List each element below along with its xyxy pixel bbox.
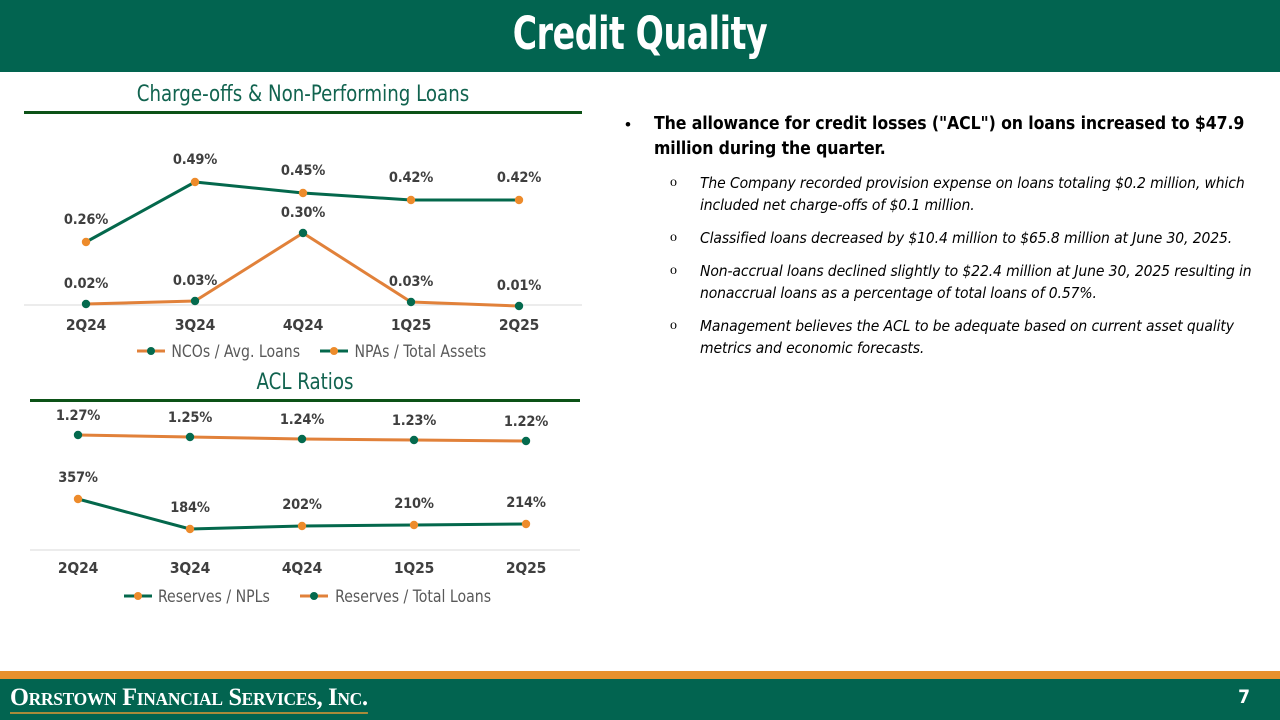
category-label: 3Q24 xyxy=(175,316,215,334)
chart1-plot-area: 0.02%0.03%0.30%0.03%0.01%0.26%0.49%0.45%… xyxy=(24,114,582,314)
data-point xyxy=(298,522,306,530)
data-point xyxy=(186,525,194,533)
data-point xyxy=(515,196,523,204)
bullet-list: •The allowance for credit losses ("ACL")… xyxy=(620,112,1260,370)
data-label: 184% xyxy=(170,500,210,516)
legend-label: NPAs / Total Assets xyxy=(355,342,487,361)
category-label: 1Q25 xyxy=(391,316,431,334)
legend-item[interactable]: NCOs / Avg. Loans xyxy=(136,342,303,361)
data-point xyxy=(522,520,530,528)
data-label: 0.30% xyxy=(281,205,325,221)
data-point xyxy=(299,189,307,197)
bullet-dot-icon: • xyxy=(620,112,654,162)
data-point xyxy=(191,297,199,305)
data-label: 1.22% xyxy=(504,414,548,430)
bullet-text: Non-accrual loans declined slightly to $… xyxy=(700,260,1260,304)
data-point xyxy=(191,178,199,186)
data-label: 0.26% xyxy=(64,212,108,228)
data-point xyxy=(522,437,530,445)
bullet-level1: •The allowance for credit losses ("ACL")… xyxy=(620,112,1260,162)
category-label: 3Q24 xyxy=(170,559,210,577)
legend-label: Reserves / Total Loans xyxy=(335,587,491,606)
data-label: 0.02% xyxy=(64,276,108,292)
legend-label: NCOs / Avg. Loans xyxy=(171,342,300,361)
data-label: 1.27% xyxy=(56,408,100,424)
legend-swatch-icon xyxy=(123,589,153,603)
chart-acl-ratios: ACL Ratios 357%184%202%210%214%1.27%1.25… xyxy=(30,370,580,609)
data-point xyxy=(74,495,82,503)
chart2-title: ACL Ratios xyxy=(52,370,558,395)
legend-item[interactable]: Reserves / Total Loans xyxy=(299,587,495,606)
bullet-text: The allowance for credit losses ("ACL") … xyxy=(654,112,1260,162)
data-point xyxy=(299,229,307,237)
data-point xyxy=(410,521,418,529)
data-label: 0.42% xyxy=(389,170,433,186)
category-label: 2Q24 xyxy=(58,559,98,577)
data-label: 0.03% xyxy=(173,273,217,289)
chart1-category-axis: 2Q243Q244Q241Q252Q25 xyxy=(24,314,582,338)
data-point xyxy=(407,298,415,306)
data-point xyxy=(82,238,90,246)
chart2-legend: Reserves / NPLsReserves / Total Loans xyxy=(30,583,580,609)
bullet-circle-icon: o xyxy=(670,315,700,359)
chart1-title: Charge-offs & Non-Performing Loans xyxy=(46,82,559,107)
data-label: 1.25% xyxy=(168,410,212,426)
data-label: 1.23% xyxy=(392,413,436,429)
category-label: 2Q25 xyxy=(499,316,539,334)
bullet-circle-icon: o xyxy=(670,172,700,216)
bullet-level2: oClassified loans decreased by $10.4 mil… xyxy=(620,227,1260,249)
data-label: 202% xyxy=(282,497,322,513)
page-title: Credit Quality xyxy=(115,8,1165,60)
footer-accent-bar xyxy=(0,671,1280,679)
legend-item[interactable]: NPAs / Total Assets xyxy=(319,342,490,361)
page-number: 7 xyxy=(1238,686,1250,708)
data-label: 210% xyxy=(394,496,434,512)
legend-swatch-icon xyxy=(319,344,349,358)
series-line-0 xyxy=(86,233,519,306)
bullet-level2: oManagement believes the ACL to be adequ… xyxy=(620,315,1260,359)
data-point xyxy=(82,300,90,308)
data-point xyxy=(186,433,194,441)
data-label: 0.45% xyxy=(281,163,325,179)
chart2-category-axis: 2Q243Q244Q241Q252Q25 xyxy=(30,557,580,583)
data-label: 0.03% xyxy=(389,274,433,290)
bullet-text: Classified loans decreased by $10.4 mill… xyxy=(700,227,1260,249)
data-point xyxy=(407,196,415,204)
slide-canvas: Credit Quality Charge-offs & Non-Perform… xyxy=(0,0,1280,720)
legend-item[interactable]: Reserves / NPLs xyxy=(123,587,273,606)
category-label: 4Q24 xyxy=(282,559,322,577)
bullet-text: The Company recorded provision expense o… xyxy=(700,172,1260,216)
bullet-circle-icon: o xyxy=(670,227,700,249)
data-label: 0.01% xyxy=(497,278,541,294)
data-label: 0.42% xyxy=(497,170,541,186)
bullet-circle-icon: o xyxy=(670,260,700,304)
data-point xyxy=(410,436,418,444)
data-label: 357% xyxy=(58,470,98,486)
data-label: 0.49% xyxy=(173,152,217,168)
bullet-level2: oNon-accrual loans declined slightly to … xyxy=(620,260,1260,304)
data-point xyxy=(298,435,306,443)
bullet-level2: oThe Company recorded provision expense … xyxy=(620,172,1260,216)
data-point xyxy=(515,302,523,310)
company-logo: Orrstown Financial Services, Inc. xyxy=(10,684,368,714)
category-label: 4Q24 xyxy=(283,316,323,334)
chart2-plot-area: 357%184%202%210%214%1.27%1.25%1.24%1.23%… xyxy=(30,402,580,557)
legend-swatch-icon xyxy=(299,589,329,603)
chart-charge-offs-npl: Charge-offs & Non-Performing Loans 0.02%… xyxy=(24,82,582,364)
category-label: 2Q24 xyxy=(66,316,106,334)
data-label: 214% xyxy=(506,495,546,511)
data-label: 1.24% xyxy=(280,412,324,428)
bullet-text: Management believes the ACL to be adequa… xyxy=(700,315,1260,359)
data-point xyxy=(74,431,82,439)
legend-label: Reserves / NPLs xyxy=(158,587,270,606)
chart1-legend: NCOs / Avg. LoansNPAs / Total Assets xyxy=(24,338,582,364)
legend-swatch-icon xyxy=(136,344,166,358)
category-label: 1Q25 xyxy=(394,559,434,577)
category-label: 2Q25 xyxy=(506,559,546,577)
